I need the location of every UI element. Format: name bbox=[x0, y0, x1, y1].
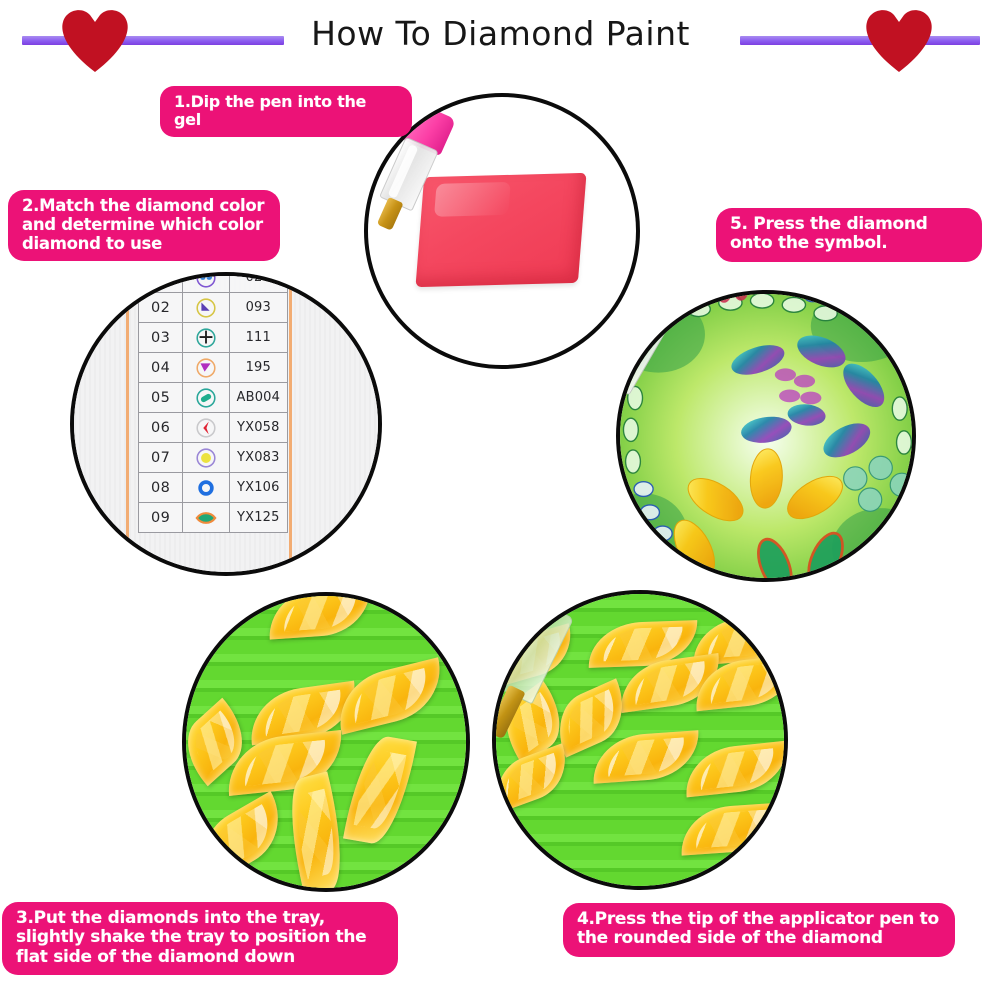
chart-row-symbol bbox=[183, 293, 229, 323]
step-label-4: 4.Press the tip of the applicator pen to… bbox=[563, 903, 955, 957]
chart-row-code: 028 bbox=[229, 272, 287, 293]
chart-row-symbol bbox=[183, 413, 229, 443]
chart-row-number: 06 bbox=[139, 413, 183, 443]
chart-row-symbol bbox=[183, 353, 229, 383]
step-label-2: 2.Match the diamond color and determine … bbox=[8, 190, 280, 261]
color-chart-row: 08YX106 bbox=[139, 473, 288, 503]
chart-row-code: YX083 bbox=[229, 443, 287, 473]
chart-row-code: YX125 bbox=[229, 503, 287, 533]
chart-row-symbol bbox=[183, 272, 229, 293]
chart-row-symbol bbox=[183, 503, 229, 533]
photo-3-content bbox=[186, 596, 466, 888]
chart-row-symbol bbox=[183, 443, 229, 473]
chart-row-number: 07 bbox=[139, 443, 183, 473]
photo-pen-on-diamond bbox=[492, 590, 788, 890]
gel-pad bbox=[415, 173, 586, 287]
chart-row-code: 195 bbox=[229, 353, 287, 383]
plus-icon bbox=[195, 327, 217, 349]
color-code-table: 02802093031110419505AB00406YX05807YX0830… bbox=[138, 272, 288, 533]
triangle-icon bbox=[195, 297, 217, 319]
chart-row-number: 05 bbox=[139, 383, 183, 413]
photo-5-content bbox=[620, 294, 912, 578]
step-label-3: 3.Put the diamonds into the tray, slight… bbox=[2, 902, 398, 975]
step-label-1: 1.Dip the pen into the gel bbox=[160, 86, 412, 137]
chart-row-code: 093 bbox=[229, 293, 287, 323]
photo-press-onto-symbol bbox=[616, 290, 916, 582]
chart-row-symbol bbox=[183, 383, 229, 413]
photo-1-content bbox=[368, 97, 636, 365]
photo-4-content bbox=[496, 594, 784, 886]
dot-ring-icon bbox=[195, 447, 217, 469]
page-title: How To Diamond Paint bbox=[0, 14, 1001, 53]
sheet-margin-line-right bbox=[289, 276, 292, 572]
chart-row-number: 03 bbox=[139, 323, 183, 353]
color-chart-row: 06YX058 bbox=[139, 413, 288, 443]
photo-color-chart: 02802093031110419505AB00406YX05807YX0830… bbox=[70, 272, 382, 576]
photo-2-content: 02802093031110419505AB00406YX05807YX0830… bbox=[74, 276, 378, 572]
chart-row-number: 09 bbox=[139, 503, 183, 533]
chart-row-number: 08 bbox=[139, 473, 183, 503]
color-chart-row: 02093 bbox=[139, 293, 288, 323]
header: How To Diamond Paint bbox=[0, 0, 1001, 72]
photo-diamonds-in-tray bbox=[182, 592, 470, 892]
chart-row-symbol bbox=[183, 473, 229, 503]
pen-tip bbox=[377, 197, 404, 231]
chart-row-number: 02 bbox=[139, 293, 183, 323]
chart-row-code: YX106 bbox=[229, 473, 287, 503]
color-chart-row: 04195 bbox=[139, 353, 288, 383]
pen-tip bbox=[492, 685, 526, 740]
chart-row-code: 111 bbox=[229, 323, 287, 353]
chart-row-symbol bbox=[183, 323, 229, 353]
two-dots-icon bbox=[195, 272, 217, 289]
infographic-canvas: How To Diamond Paint 1.Dip the pen into … bbox=[0, 0, 1001, 1001]
chart-row-number: 04 bbox=[139, 353, 183, 383]
ring-icon bbox=[195, 477, 217, 499]
chart-row-number bbox=[139, 272, 183, 293]
chart-row-code: YX058 bbox=[229, 413, 287, 443]
pill-icon bbox=[195, 387, 217, 409]
color-chart-row: 028 bbox=[139, 272, 288, 293]
leaf-icon bbox=[195, 507, 217, 529]
color-chart-row: 05AB004 bbox=[139, 383, 288, 413]
color-chart-row: 07YX083 bbox=[139, 443, 288, 473]
chart-row-code: AB004 bbox=[229, 383, 287, 413]
step-label-5: 5. Press the diamond onto the symbol. bbox=[716, 208, 982, 262]
sheet-margin-line-left bbox=[126, 276, 129, 572]
chevron-left-icon bbox=[195, 417, 217, 439]
color-chart-row: 09YX125 bbox=[139, 503, 288, 533]
triangle-down-icon bbox=[195, 357, 217, 379]
color-chart-row: 03111 bbox=[139, 323, 288, 353]
